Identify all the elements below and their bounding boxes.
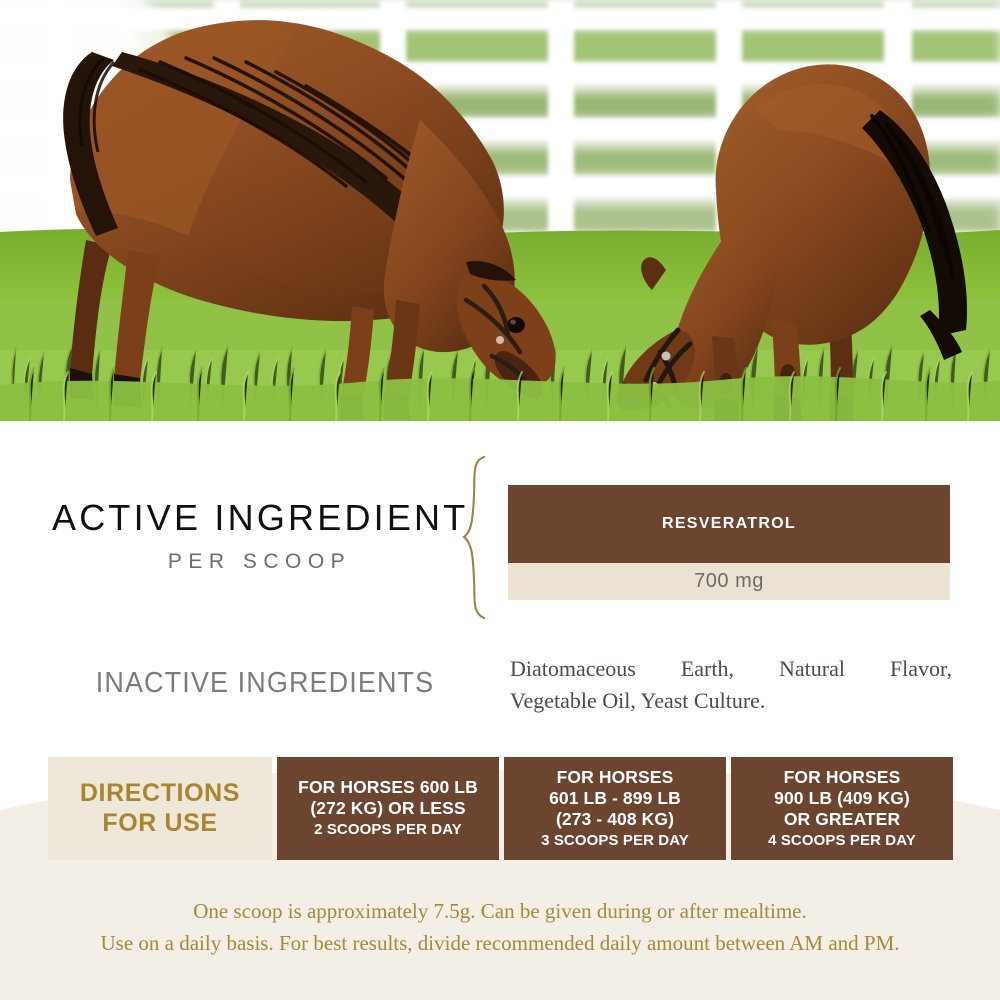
active-ingredient-heading: ACTIVE INGREDIENT PER SCOOP [52,500,467,574]
dosage-cell-3: FOR HORSES 900 LB (409 KG) OR GREATER 4 … [731,757,953,860]
dosage-2-line-3: (273 - 408 KG) [556,809,674,830]
dosage-3-line-1: FOR HORSES [784,767,901,788]
dosage-cell-1: FOR HORSES 600 LB (272 KG) OR LESS 2 SCO… [277,757,499,860]
dosage-cell-2: FOR HORSES 601 LB - 899 LB (273 - 408 KG… [504,757,726,860]
active-ingredient-amount: 700 mg [508,563,950,600]
dosage-3-line-3: OR GREATER [784,809,900,830]
curly-brace-icon [462,455,496,620]
directions-row: DIRECTIONS FOR USE FOR HORSES 600 LB (27… [48,757,952,860]
active-ingredient-section: ACTIVE INGREDIENT PER SCOOP RESVERATROL … [0,455,1000,625]
footer-note-line-1: One scoop is approximately 7.5g. Can be … [50,896,950,928]
active-ingredient-table: RESVERATROL 700 mg [508,485,950,600]
dosage-1-line-2: (272 KG) OR LESS [310,798,465,819]
inactive-ingredients-line-2: Vegetable Oil, Yeast Culture. [510,685,952,717]
product-info-panel: ACTIVE INGREDIENT PER SCOOP RESVERATROL … [0,0,1000,1000]
directions-title-line-2: FOR USE [102,809,217,839]
active-ingredient-title: ACTIVE INGREDIENT [52,500,467,536]
directions-title-cell: DIRECTIONS FOR USE [48,757,272,860]
footer-note: One scoop is approximately 7.5g. Can be … [50,896,950,959]
dosage-3-line-2: 900 LB (409 KG) [774,788,910,809]
dosage-1-line-1: FOR HORSES 600 LB [298,777,478,798]
active-ingredient-subtitle: PER SCOOP [52,550,467,574]
footer-note-line-2: Use on a daily basis. For best results, … [50,928,950,960]
inactive-ingredients-line-1: Diatomaceous Earth, Natural Flavor, [510,653,952,685]
hero-illustration [0,0,1000,421]
dosage-2-line-1: FOR HORSES [557,767,674,788]
dosage-3-dose: 4 SCOOPS PER DAY [768,832,916,851]
dosage-1-dose: 2 SCOOPS PER DAY [314,821,462,840]
inactive-ingredients-section: INACTIVE INGREDIENTS Diatomaceous Earth,… [0,645,1000,735]
directions-title-line-1: DIRECTIONS [80,779,240,809]
horses-grazing-photo [0,0,1000,421]
dosage-2-dose: 3 SCOOPS PER DAY [541,832,689,851]
inactive-ingredients-label: INACTIVE INGREDIENTS [74,667,455,700]
inactive-ingredients-list: Diatomaceous Earth, Natural Flavor, Vege… [510,653,952,717]
dosage-2-line-2: 601 LB - 899 LB [549,788,681,809]
active-ingredient-name: RESVERATROL [508,485,950,563]
